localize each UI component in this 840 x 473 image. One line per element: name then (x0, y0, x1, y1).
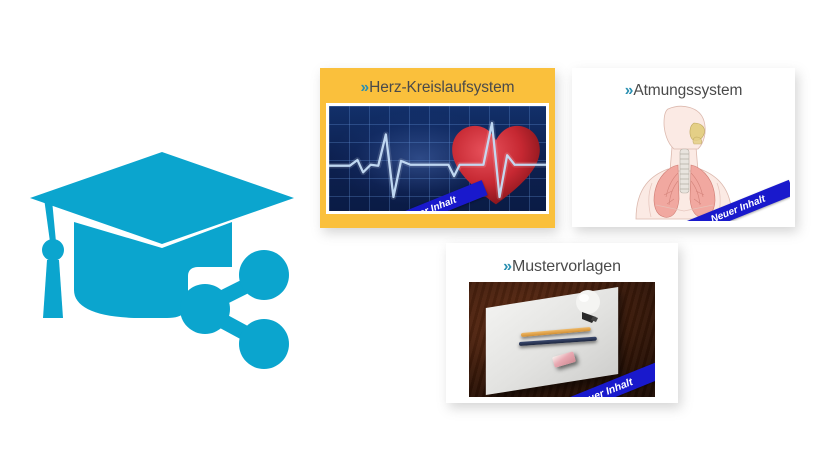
share-icon (180, 250, 289, 369)
chevron-double-right-icon: » (503, 258, 511, 275)
card-title-text: Atmungssystem (633, 82, 742, 99)
card-title-atmungssystem: »Atmungssystem (577, 83, 790, 99)
card-title-text: Herz-Kreislaufsystem (369, 79, 514, 96)
graduation-cap-share-logo (22, 150, 302, 375)
chevron-double-right-icon: » (625, 82, 633, 99)
card-thumbnail-templates[interactable]: Neuer Inhalt (469, 282, 655, 397)
content-card-mustervorlagen[interactable]: »Mustervorlagen Neuer Inhalt (446, 243, 678, 403)
respiratory-system-illustration (624, 101, 744, 221)
chevron-double-right-icon: » (361, 79, 369, 96)
lightbulb-icon (574, 290, 604, 324)
content-card-herz-kreislaufsystem[interactable]: »Herz-Kreislaufsystem N (320, 68, 555, 228)
card-thumbnail-ecg[interactable]: Neuer Inhalt (326, 103, 549, 214)
card-thumbnail-respiratory-system[interactable]: Neuer Inhalt (577, 101, 790, 221)
card-title-herz-kreislaufsystem: »Herz-Kreislaufsystem (326, 80, 549, 96)
content-card-atmungssystem[interactable]: »Atmungssystem (572, 68, 795, 227)
slide-canvas: »Herz-Kreislaufsystem N (0, 0, 840, 473)
card-title-mustervorlagen: »Mustervorlagen (451, 259, 673, 275)
card-title-text: Mustervorlagen (512, 258, 621, 275)
ecg-waveform (329, 106, 546, 211)
